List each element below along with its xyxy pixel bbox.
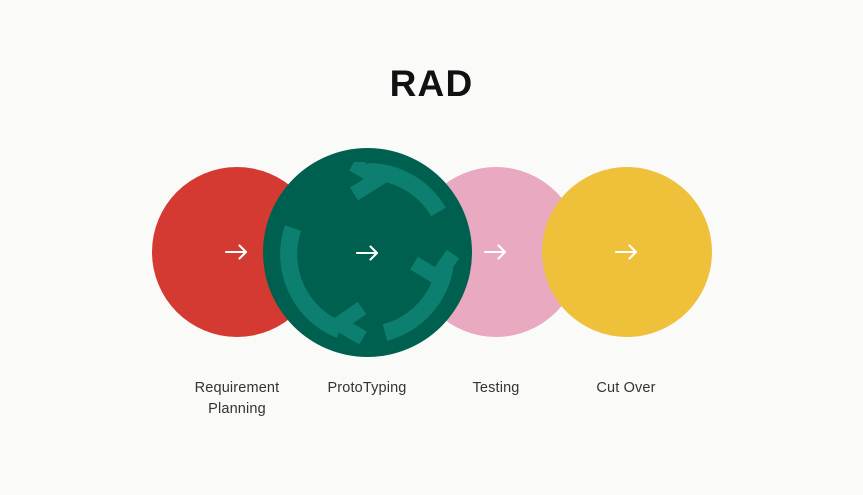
diagram-canvas: RAD <box>0 0 863 495</box>
stage-circle-prototyping[interactable] <box>263 148 472 357</box>
stage-label-cut-over: Cut Over <box>546 378 706 399</box>
stage-circle-cut-over[interactable] <box>542 167 712 337</box>
arrow-right-icon <box>222 237 252 267</box>
arrow-right-icon <box>612 237 642 267</box>
stage-labels: Requirement Planning ProtoTyping Testing… <box>0 378 863 448</box>
arrow-right-icon <box>353 238 383 268</box>
stage-label-line-2: Planning <box>208 401 266 417</box>
arrow-right-icon <box>481 237 511 267</box>
stage-label-line-1: Requirement <box>195 380 280 396</box>
